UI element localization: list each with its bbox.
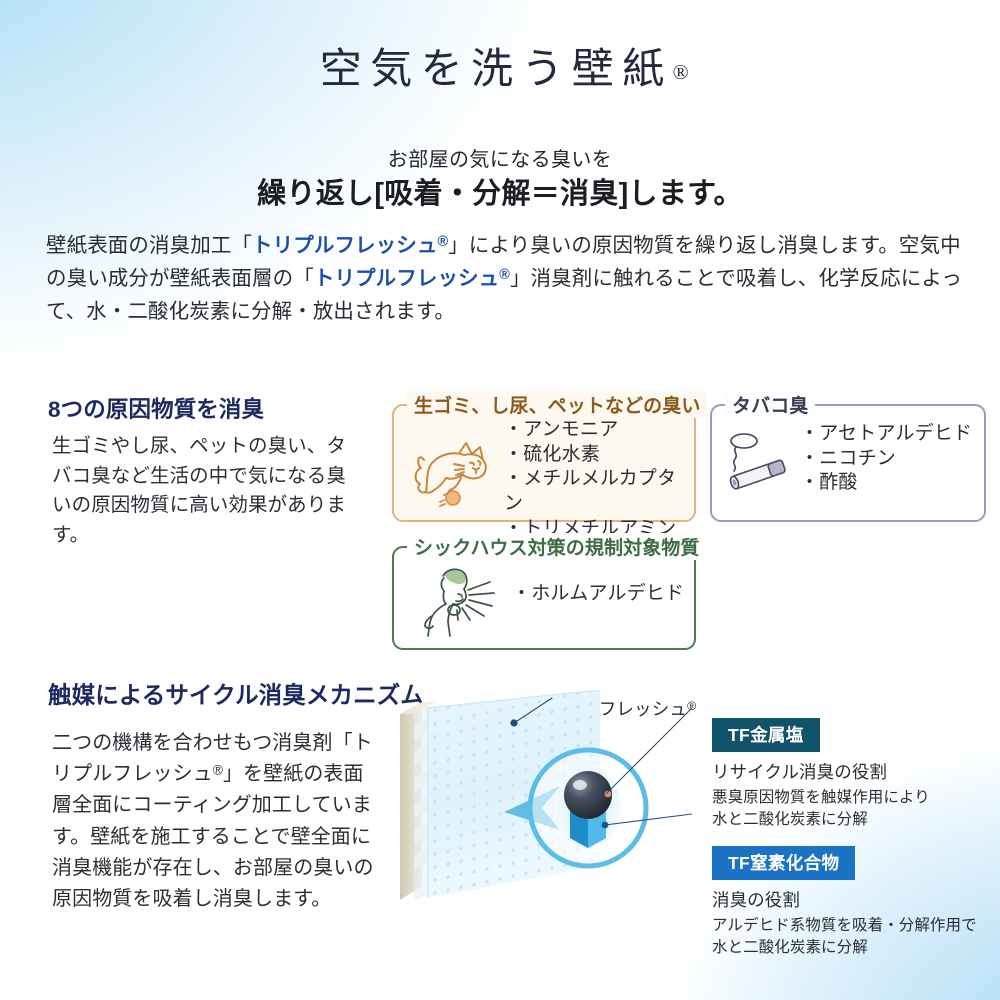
callout-tf-metal-salt: TF金属塩 リサイクル消臭の役割 悪臭原因物質を触媒作用により 水と二酸化炭素に… xyxy=(712,718,930,832)
page-title: 空気を洗う壁紙® xyxy=(0,46,1000,94)
odor-box-legend: 生ゴミ、し尿、ペットなどの臭い xyxy=(407,391,707,418)
odor-item: ・ニコチン xyxy=(800,447,972,472)
odor-item: ・硫化水素 xyxy=(504,443,694,468)
odor-item: ・ホルムアルデヒド xyxy=(512,582,684,607)
registered-mark-icon: ® xyxy=(499,267,510,283)
section-body-substances: 生ゴミやし尿、ペットの臭い、タバコ臭など生活の中で気になる臭いの原因物質に高い効… xyxy=(52,432,352,551)
wallpaper-mechanism-diagram xyxy=(392,690,692,955)
odor-box-kitchen-pet: 生ゴミ、し尿、ペットなどの臭い xyxy=(392,404,696,522)
section-body-mechanism: 二つの機構を合わせもつ消臭剤「トリプルフレッシュ®」を壁紙の表面層全面にコーティ… xyxy=(52,728,380,915)
odor-item: ・アンモニア xyxy=(504,418,694,443)
subtitle-line-2: 繰り返し[吸着・分解＝消臭]します。 xyxy=(0,170,1000,212)
registered-mark-icon: ® xyxy=(673,60,689,84)
odor-item: ・メチルメルカプタン xyxy=(504,467,694,516)
callout-desc-line1: アルデヒド系物質を吸着・分解作用で xyxy=(712,917,977,934)
callout-description: 悪臭原因物質を触媒作用により 水と二酸化炭素に分解 xyxy=(712,787,930,832)
callout-desc-line2: 水と二酸化炭素に分解 xyxy=(712,811,868,828)
badge-tf-nitrogen-compound: TF窒素化合物 xyxy=(712,846,855,880)
brand-text: トリプルフレッシュ xyxy=(314,267,499,290)
brand-triple-fresh-1: トリプルフレッシュ® xyxy=(252,234,448,257)
odor-box-legend: タバコ臭 xyxy=(725,391,815,418)
brand-text: トリプルフレッシュ xyxy=(252,234,437,257)
mechanism-text-2: 」を壁紙の表面層全面にコーティング加工しています。壁紙を施工することで壁全面に消… xyxy=(52,763,374,910)
callout-tf-nitrogen-compound: TF窒素化合物 消臭の役割 アルデヒド系物質を吸着・分解作用で 水と二酸化炭素に… xyxy=(712,846,977,960)
odor-item: ・アセトアルデヒド xyxy=(800,422,972,447)
odor-box-items: ・アセトアルデヒド ・ニコチン ・酢酸 xyxy=(800,422,972,496)
page-title-text: 空気を洗う壁紙 xyxy=(320,47,673,93)
section-heading-substances: 8つの原因物質を消臭 xyxy=(48,392,264,424)
registered-mark-icon: ® xyxy=(437,234,448,250)
intro-text-1: 壁紙表面の消臭加工「 xyxy=(46,234,252,257)
cat-icon xyxy=(404,430,496,510)
section-heading-mechanism: 触媒によるサイクル消臭メカニズム xyxy=(48,676,424,710)
callout-role: 消臭の役割 xyxy=(712,887,977,912)
badge-tf-metal-salt: TF金属塩 xyxy=(712,718,820,752)
brand-triple-fresh-2: トリプルフレッシュ® xyxy=(314,267,510,290)
callout-role: リサイクル消臭の役割 xyxy=(712,759,930,784)
odor-box-sickhouse: シックハウス対策の規制対象物質 xyxy=(392,546,696,650)
cigarette-icon xyxy=(722,428,796,494)
callout-desc-line1: 悪臭原因物質を触媒作用により xyxy=(712,789,930,806)
odor-item: ・酢酸 xyxy=(800,471,972,496)
odor-box-legend: シックハウス対策の規制対象物質 xyxy=(407,533,706,560)
callout-desc-line2: 水と二酸化炭素に分解 xyxy=(712,939,868,956)
subtitle-line-1: お部屋の気になる臭いを xyxy=(0,143,1000,172)
registered-mark-icon: ® xyxy=(213,762,223,777)
mechanism-text-1: 二つの機構を合わせもつ消臭剤「 xyxy=(52,732,353,754)
odor-box-items: ・ホルムアルデヒド xyxy=(512,582,684,607)
callout-description: アルデヒド系物質を吸着・分解作用で 水と二酸化炭素に分解 xyxy=(712,915,977,960)
odor-box-items: ・アンモニア ・硫化水素 ・メチルメルカプタン ・トリメチルアミン xyxy=(504,418,694,541)
coughing-person-icon xyxy=(410,560,502,642)
odor-box-tobacco: タバコ臭 ・アセトアルデヒド ・ニコチン ・酢酸 xyxy=(710,404,986,522)
intro-paragraph: 壁紙表面の消臭加工「トリプルフレッシュ®」により臭いの原因物質を繰り返し消臭しま… xyxy=(46,229,962,329)
